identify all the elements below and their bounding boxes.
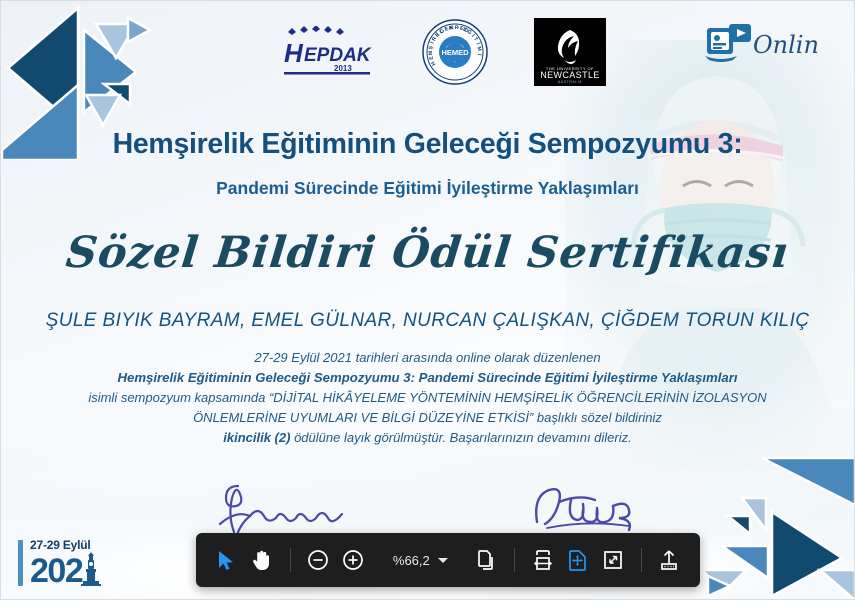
zoom-in-button[interactable] [337, 541, 370, 579]
toolbar-divider-3 [641, 548, 642, 572]
hepdak-logo: H EPDAK 2013 [280, 26, 376, 78]
page-subtitle: Pandemi Sürecinde Eğitimi İyileştirme Ya… [0, 178, 855, 199]
export-button[interactable] [653, 541, 686, 579]
svg-text:NEWCASTLE: NEWCASTLE [540, 70, 600, 80]
certificate-page: H EPDAK 2013 HEMED H [0, 0, 855, 600]
pan-tool[interactable] [245, 541, 278, 579]
chevron-down-icon [438, 558, 448, 563]
toolbar-divider-1 [290, 548, 291, 572]
clock-tower-icon [81, 552, 101, 586]
svg-text:R: R [454, 25, 458, 31]
fit-page-button[interactable] [561, 541, 594, 579]
award-rank-label: ikincilik (2) [223, 430, 290, 445]
body-line-5: ikincilik (2) ödülüne layık görülmüştür.… [0, 428, 855, 448]
svg-text:Online: Online [753, 31, 820, 59]
zoom-out-button[interactable] [302, 541, 335, 579]
award-script-heading: Sözel Bildiri Ödül Sertifikası [0, 228, 855, 278]
newcastle-logo: THE UNIVERSITY OF NEWCASTLE AUSTRALIA [534, 18, 606, 86]
certificate-body: 27-29 Eylül 2021 tarihleri arasında onli… [0, 348, 855, 448]
page-title: Hemşirelik Eğitiminin Geleceği Sempozyum… [0, 128, 855, 161]
fullscreen-button[interactable] [596, 541, 629, 579]
corner-decoration-bottom-right [690, 450, 855, 600]
svg-text:M: M [427, 51, 433, 56]
date-badge-year: 202 [30, 557, 82, 586]
fit-width-button[interactable] [526, 541, 559, 579]
date-badge-dates: 27-29 Eylül [30, 539, 101, 551]
pdf-toolbar[interactable]: %66,2 [196, 533, 700, 587]
date-badge-bar [18, 540, 23, 586]
recipient-names: ŞULE BIYIK BAYRAM, EMEL GÜLNAR, NURCAN Ç… [0, 310, 855, 332]
svg-text:EPDAK: EPDAK [304, 45, 372, 66]
toolbar-divider-2 [514, 548, 515, 572]
pdf-viewer: H EPDAK 2013 HEMED H [0, 0, 855, 604]
award-rank-text: ödülüne layık görülmüştür. Başarılarınız… [290, 430, 631, 445]
zoom-level-dropdown[interactable]: %66,2 [383, 553, 457, 568]
body-line-4: ÖNLEMLERİNE UYUMLARI VE BİLGİ DÜZEYİNE E… [0, 408, 855, 428]
select-tool[interactable] [210, 541, 243, 579]
signature-right [525, 480, 655, 538]
svg-text:HEMED: HEMED [441, 48, 469, 57]
svg-text:H: H [284, 38, 304, 68]
copy-pages-button[interactable] [470, 541, 503, 579]
zoom-level-value: %66,2 [393, 553, 430, 568]
hemed-logo: HEMED H E M Ş İ R E L İ K · E Ğ [422, 19, 488, 85]
date-badge: 27-29 Eylül 202 [18, 539, 101, 586]
online-logo: Online [705, 22, 820, 66]
svg-text:2013: 2013 [334, 64, 352, 73]
svg-text:M: M [475, 46, 482, 51]
svg-text:AUSTRALIA: AUSTRALIA [557, 80, 581, 84]
body-line-1: 27-29 Eylül 2021 tarihleri arasında onli… [0, 348, 855, 368]
body-line-3: isimli sempozyum kapsamında “DİJİTAL HİK… [0, 388, 855, 408]
body-line-2: Hemşirelik Eğitiminin Geleceği Sempozyum… [0, 368, 855, 388]
